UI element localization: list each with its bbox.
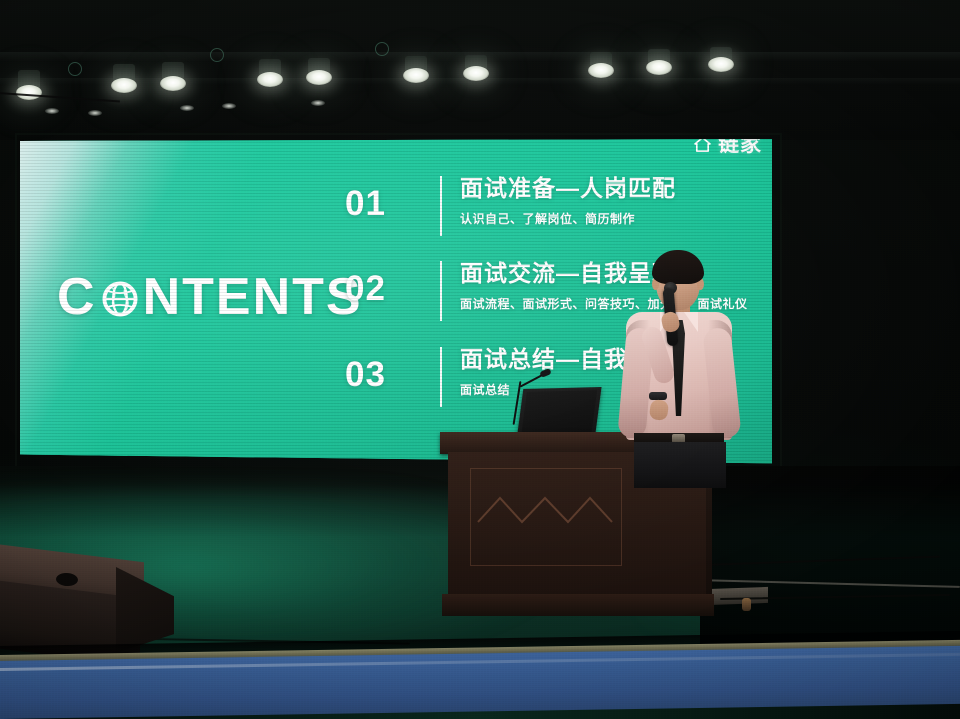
trousers [634, 442, 726, 488]
collar-right [684, 312, 698, 332]
house-icon [693, 139, 712, 154]
par-light-icon [646, 60, 672, 75]
toc-row: 01 面试准备—人岗匹配 认识自己、了解岗位、简历制作 [345, 176, 772, 261]
toc-title: 面试准备—人岗匹配 [460, 176, 772, 202]
toc-divider [440, 176, 442, 236]
stage-photo-scene: 链家 C NTENTS 01 [0, 0, 960, 719]
contents-heading-first-letter: C [57, 271, 97, 323]
presenter [612, 250, 744, 480]
par-light-icon [403, 68, 429, 83]
hair [652, 250, 704, 284]
podium-chevron-ornament [476, 492, 614, 526]
contents-heading: C NTENTS [57, 271, 363, 323]
toc-text-block: 面试准备—人岗匹配 认识自己、了解岗位、简历制作 [460, 176, 772, 226]
toc-divider [440, 347, 442, 407]
toc-number: 03 [345, 357, 419, 392]
toc-number: 01 [345, 186, 419, 221]
dim-light-ring [375, 42, 389, 56]
par-light-icon [588, 63, 614, 78]
par-light-icon [160, 76, 186, 91]
contents-heading-rest: NTENTS [143, 271, 363, 323]
podium-base [442, 594, 714, 616]
brand-logo: 链家 [693, 139, 762, 155]
speaker-side-panel [116, 567, 174, 653]
par-light-icon [16, 85, 42, 100]
small-light-glow [222, 103, 236, 109]
small-light-glow [180, 105, 194, 111]
toc-subtitle: 认识自己、了解岗位、简历制作 [460, 212, 772, 226]
dim-light-ring [210, 48, 224, 62]
brand-name: 链家 [718, 139, 762, 155]
dim-light-ring [68, 62, 82, 76]
laptop-screen [521, 390, 597, 437]
small-light-glow [45, 108, 59, 114]
cable-plug [742, 598, 751, 611]
toc-number: 02 [345, 271, 419, 306]
par-light-icon [708, 57, 734, 72]
small-light-glow [311, 100, 325, 106]
globe-icon [98, 277, 142, 321]
monitor-wedge-speaker [0, 553, 172, 658]
toc-divider [440, 261, 442, 321]
small-light-glow [88, 110, 102, 116]
par-light-icon [111, 78, 137, 93]
par-light-icon [463, 66, 489, 81]
par-light-icon [257, 72, 283, 87]
par-light-icon [306, 70, 332, 85]
